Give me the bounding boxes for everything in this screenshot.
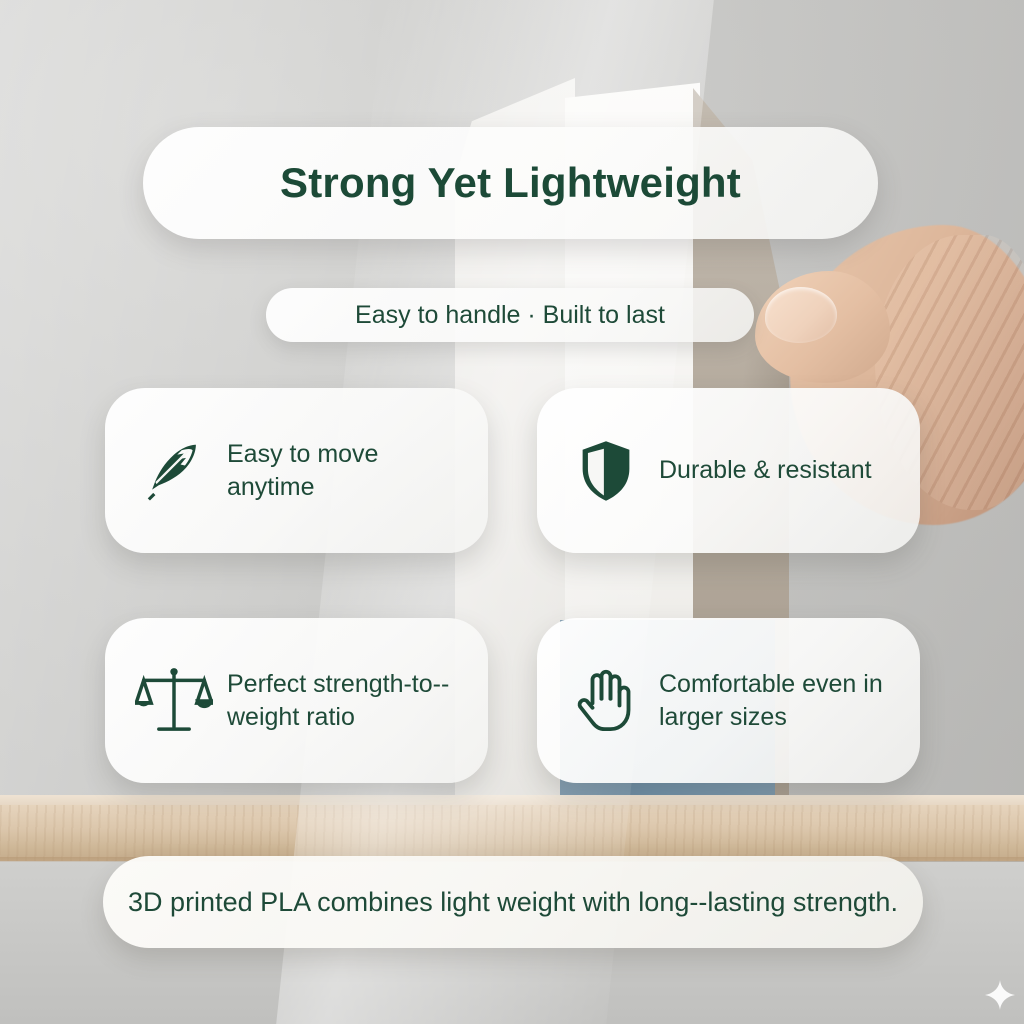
- shield-icon: [563, 428, 649, 514]
- feature-label: Perfect strength-to--weight ratio: [227, 668, 462, 733]
- feature-card-comfortable[interactable]: Comfortable even in larger sizes: [537, 618, 920, 783]
- balance-scale-icon: [131, 658, 217, 744]
- feature-label: Durable & resistant: [659, 454, 872, 487]
- feature-card-strength-ratio[interactable]: Perfect strength-to--weight ratio: [105, 618, 488, 783]
- footer-banner: 3D printed PLA combines light weight wit…: [103, 856, 923, 948]
- sparkle-icon: [985, 980, 1015, 1010]
- feature-card-easy-to-move[interactable]: Easy to move anytime: [105, 388, 488, 553]
- feature-label: Easy to move anytime: [227, 438, 462, 503]
- feather-icon: [131, 428, 217, 514]
- open-hand-icon: [563, 658, 649, 744]
- infographic-canvas: Strong Yet Lightweight Easy to handle · …: [0, 0, 1024, 1024]
- feature-card-durable[interactable]: Durable & resistant: [537, 388, 920, 553]
- feature-label: Comfortable even in larger sizes: [659, 668, 894, 733]
- footer-text: 3D printed PLA combines light weight wit…: [128, 885, 898, 920]
